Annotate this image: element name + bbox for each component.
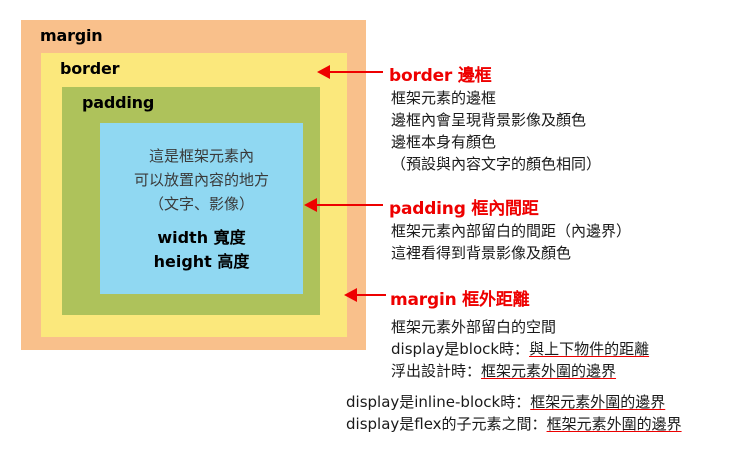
content-line-3: （文字、影像） bbox=[100, 192, 303, 216]
content-width-label: width 寬度 bbox=[100, 226, 303, 250]
margin-detail-prefix-1: display是block時： bbox=[391, 340, 529, 358]
margin-annotation-body: 框架元素外部留白的空間 display是block時：與上下物件的距離 浮出設計… bbox=[391, 316, 649, 382]
display-mode-underlined-2: 框架元素外圍的邊界 bbox=[547, 415, 682, 433]
display-mode-line-2: display是flex的子元素之間：框架元素外圍的邊界 bbox=[346, 413, 682, 435]
display-mode-line-1: display是inline-block時：框架元素外圍的邊界 bbox=[346, 391, 682, 413]
border-annotation-heading: border 邊框 bbox=[389, 61, 491, 86]
border-annotation-line-3: 邊框本身有顏色 bbox=[391, 131, 601, 153]
border-annotation-body: 框架元素的邊框 邊框內會呈現背景影像及顏色 邊框本身有顏色 （預設與內容文字的顏… bbox=[391, 87, 601, 175]
margin-annotation-line-3: 浮出設計時：框架元素外圍的邊界 bbox=[391, 360, 649, 382]
padding-annotation-heading: padding 框內間距 bbox=[389, 194, 539, 219]
border-annotation-line-4: （預設與內容文字的顏色相同） bbox=[391, 153, 601, 175]
arrow-shaft bbox=[313, 204, 383, 206]
padding-pointer-arrow-icon bbox=[304, 198, 383, 212]
content-line-2: 可以放置內容的地方 bbox=[100, 168, 303, 192]
margin-pointer-arrow-icon bbox=[344, 288, 386, 302]
padding-annotation-line-2: 這裡看得到背景影像及顏色 bbox=[391, 242, 631, 264]
margin-annotation-heading: margin 框外距離 bbox=[390, 285, 529, 310]
margin-box-label: margin bbox=[40, 26, 103, 45]
display-mode-notes: display是inline-block時：框架元素外圍的邊界 display是… bbox=[346, 391, 682, 435]
display-mode-prefix-1: display是inline-block時： bbox=[346, 393, 530, 411]
margin-annotation-line-1: 框架元素外部留白的空間 bbox=[391, 316, 649, 338]
box-model-diagram-canvas: margin border padding 這是框架元素內 可以放置內容的地方 … bbox=[0, 0, 750, 461]
content-box: 這是框架元素內 可以放置內容的地方 （文字、影像） width 寬度 heigh… bbox=[100, 123, 303, 294]
display-mode-prefix-2: display是flex的子元素之間： bbox=[346, 415, 547, 433]
border-pointer-arrow-icon bbox=[317, 65, 383, 79]
margin-annotation-line-2: display是block時：與上下物件的距離 bbox=[391, 338, 649, 360]
padding-box-label: padding bbox=[82, 93, 154, 112]
border-box: border padding 這是框架元素內 可以放置內容的地方 （文字、影像）… bbox=[41, 53, 347, 337]
padding-box: padding 這是框架元素內 可以放置內容的地方 （文字、影像） width … bbox=[62, 87, 320, 315]
border-annotation-line-2: 邊框內會呈現背景影像及顏色 bbox=[391, 109, 601, 131]
arrow-shaft bbox=[326, 71, 383, 73]
content-spacer bbox=[100, 216, 303, 226]
padding-annotation-line-1: 框架元素內部留白的間距（內邊界） bbox=[391, 220, 631, 242]
display-mode-underlined-1: 框架元素外圍的邊界 bbox=[530, 393, 665, 411]
margin-detail-underlined-2: 框架元素外圍的邊界 bbox=[481, 362, 616, 380]
arrow-shaft bbox=[353, 294, 386, 296]
margin-box: margin border padding 這是框架元素內 可以放置內容的地方 … bbox=[21, 20, 366, 350]
border-annotation-line-1: 框架元素的邊框 bbox=[391, 87, 601, 109]
margin-detail-underlined-1: 與上下物件的距離 bbox=[529, 340, 649, 358]
margin-detail-prefix-2: 浮出設計時： bbox=[391, 362, 481, 380]
content-line-1: 這是框架元素內 bbox=[100, 144, 303, 168]
border-box-label: border bbox=[60, 59, 119, 78]
content-height-label: height 高度 bbox=[100, 250, 303, 274]
padding-annotation-body: 框架元素內部留白的間距（內邊界） 這裡看得到背景影像及顏色 bbox=[391, 220, 631, 264]
content-box-text: 這是框架元素內 可以放置內容的地方 （文字、影像） width 寬度 heigh… bbox=[100, 144, 303, 274]
